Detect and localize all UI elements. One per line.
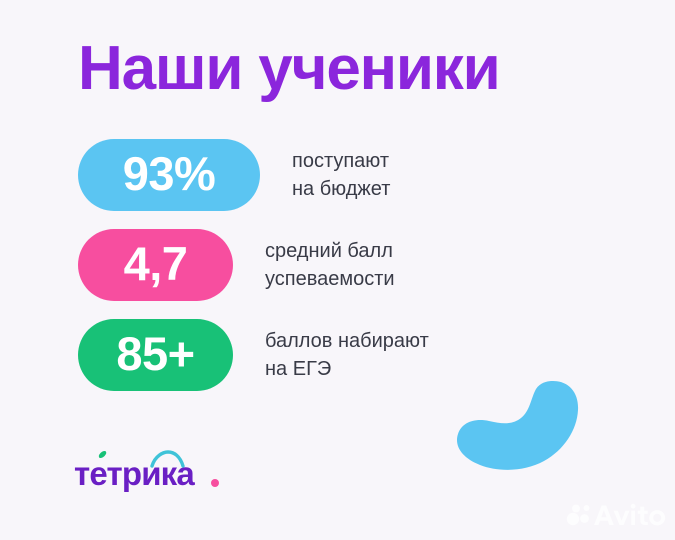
stat-row: 4,7 средний балл успеваемости xyxy=(78,229,598,301)
stat-badge-85: 85+ xyxy=(78,319,233,391)
dot-icon xyxy=(211,479,219,487)
stat-badge-47: 4,7 xyxy=(78,229,233,301)
stats-list: 93% поступают на бюджет 4,7 средний балл… xyxy=(78,139,598,409)
promo-poster: Наши ученики 93% поступают на бюджет 4,7… xyxy=(0,0,675,540)
brand-logo: тетрика xyxy=(74,448,244,496)
blue-blob-shape xyxy=(452,378,580,472)
stat-row: 93% поступают на бюджет xyxy=(78,139,598,211)
stat-description-85: баллов набирают на ЕГЭ xyxy=(265,327,429,383)
arc-icon xyxy=(150,450,185,468)
stat-description-47: средний балл успеваемости xyxy=(265,237,395,293)
page-title: Наши ученики xyxy=(78,33,500,105)
avito-watermark xyxy=(566,502,666,530)
stat-badge-93: 93% xyxy=(78,139,260,211)
stat-description-93: поступают на бюджет xyxy=(292,147,390,203)
